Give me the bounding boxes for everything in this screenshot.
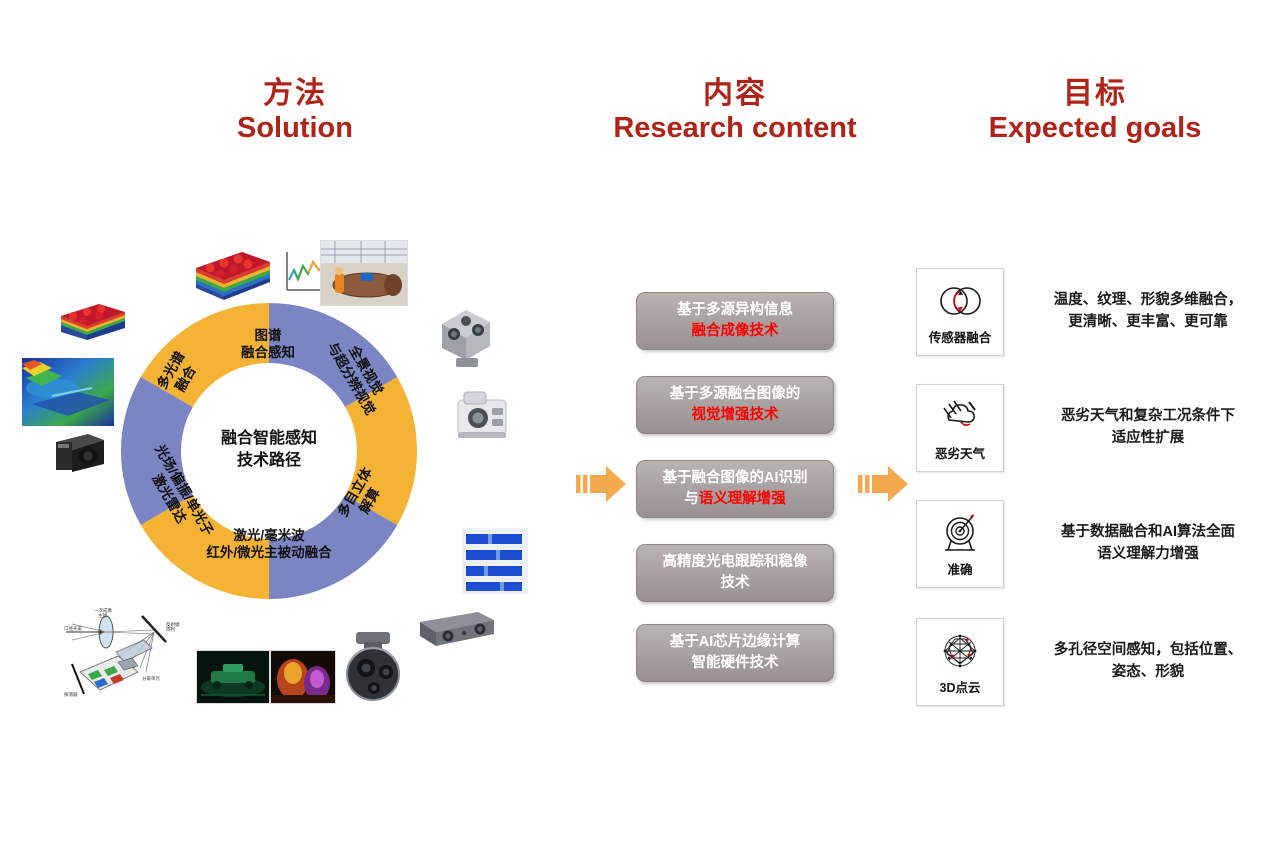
header-en: Expected goals (945, 111, 1245, 145)
goal-card[interactable]: 准确 (916, 500, 1004, 588)
goal-description: 温度、纹理、形貌多维融合，更清晰、更丰富、更可靠 (1032, 290, 1264, 334)
header-en: Research content (585, 111, 885, 145)
hyperspectral-cube-thumbnail (190, 246, 274, 308)
camera-module-thumbnail (52, 430, 108, 476)
solution-donut-chart: 图谱融合感知 全景视觉与超分辨视觉 多目立体解算 激光/毫米波红外/微光主被动融… (118, 300, 420, 602)
research-box[interactable]: 基于多源融合图像的 视觉增强技术 (636, 376, 834, 434)
eo-gimbal-turret-thumbnail (336, 628, 410, 706)
goal-row: 传感器融合 温度、纹理、形貌多维融合，更清晰、更丰富、更可靠 (916, 268, 1264, 356)
research-box-line1: 基于多源异构信息 (677, 300, 793, 321)
multi-aperture-camera-thumbnail (430, 302, 500, 372)
research-box-line2: 融合成像技术 (692, 321, 779, 342)
column-header-expected-goals: 目标 Expected goals (945, 76, 1245, 146)
bad-weather-icon (935, 394, 985, 440)
goal-card[interactable]: 恶劣天气 (916, 384, 1004, 472)
goal-card[interactable]: 3D点云 (916, 618, 1004, 706)
goal-card-caption: 传感器融合 (929, 327, 992, 346)
donut-label-top: 图谱融合感知 (198, 328, 338, 362)
research-box[interactable]: 基于AI芯片边缘计算 智能硬件技术 (636, 624, 834, 682)
goal-row: 准确 基于数据融合和AI算法全面语义理解力增强 (916, 500, 1264, 588)
arrow-solution-to-content (576, 462, 628, 506)
goal-description: 恶劣天气和复杂工况条件下适应性扩展 (1032, 406, 1264, 450)
column-header-solution: 方法 Solution (150, 76, 440, 146)
svg-text:口径光束: 口径光束 (64, 625, 82, 632)
research-box-line1: 基于融合图像的AI识别 (663, 468, 808, 489)
goal-row: 3D点云 多孔径空间感知，包括位置、姿态、形貌 (916, 618, 1264, 706)
research-box-line1: 高精度光电跟踪和稳像 (663, 552, 808, 573)
svg-text:阵列: 阵列 (166, 626, 175, 633)
header-en: Solution (150, 111, 440, 145)
svg-text:探测器: 探测器 (64, 691, 78, 698)
donut-center-label: 融合智能感知 技术路径 (174, 428, 364, 471)
column-header-research-content: 内容 Research content (585, 76, 885, 146)
research-box-line1: 基于多源融合图像的 (670, 384, 801, 405)
goal-card-caption: 恶劣天气 (935, 443, 985, 462)
point-cloud-icon (935, 628, 985, 674)
svg-text:分束单元: 分束单元 (142, 675, 160, 682)
structured-light-depth-thumbnail (462, 528, 528, 594)
stereo-camera-thumbnail (414, 608, 500, 652)
research-box-line2: 与语义理解增强 (684, 489, 786, 510)
goal-card-caption: 3D点云 (940, 677, 981, 696)
header-cn: 内容 (585, 76, 885, 111)
research-box-line2: 技术 (721, 573, 750, 594)
night-vision-image-thumbnail (196, 650, 270, 704)
research-box[interactable]: 基于多源异构信息 融合成像技术 (636, 292, 834, 350)
industrial-inspection-photo-thumbnail (320, 240, 408, 306)
optical-ray-diagram-thumbnail: 口径光束 一次成像 主镜 反射镜 阵列 分束单元 探测器 (58, 600, 204, 698)
svg-text:一次成像: 一次成像 (94, 607, 112, 614)
research-box[interactable]: 基于融合图像的AI识别 与语义理解增强 (636, 460, 834, 518)
svg-text:主镜: 主镜 (98, 612, 107, 619)
arrow-content-to-goals (858, 462, 910, 506)
target-accuracy-icon (935, 510, 985, 556)
research-box-line2: 智能硬件技术 (692, 653, 779, 674)
goal-card-caption: 准确 (947, 559, 972, 578)
goal-description: 基于数据融合和AI算法全面语义理解力增强 (1032, 522, 1264, 566)
thermal-image-thumbnail (22, 358, 114, 426)
goal-card[interactable]: 传感器融合 (916, 268, 1004, 356)
research-box-line1: 基于AI芯片边缘计算 (670, 632, 801, 653)
svg-text:反射镜: 反射镜 (166, 621, 180, 628)
goal-row: 恶劣天气 恶劣天气和复杂工况条件下适应性扩展 (916, 384, 1264, 472)
optical-instrument-thumbnail (452, 388, 514, 444)
header-cn: 方法 (150, 76, 440, 111)
sensor-fusion-icon (935, 278, 985, 324)
infrared-fusion-image-thumbnail (270, 650, 336, 704)
header-cn: 目标 (945, 76, 1245, 111)
research-box-line2: 视觉增强技术 (692, 405, 779, 426)
goal-description: 多孔径空间感知，包括位置、姿态、形貌 (1032, 640, 1264, 684)
research-box[interactable]: 高精度光电跟踪和稳像 技术 (636, 544, 834, 602)
